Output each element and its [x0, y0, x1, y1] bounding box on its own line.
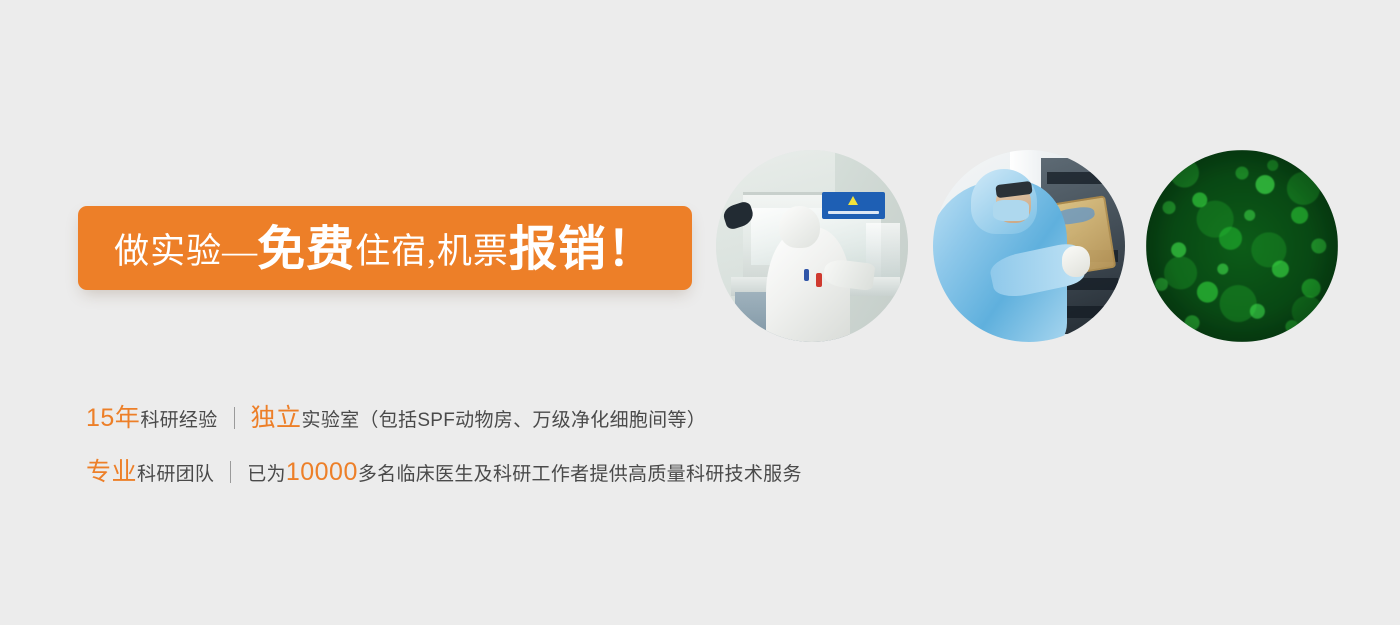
feature-text-2-3: 已为	[247, 459, 286, 486]
feature-line-1: 15年科研经验独立实验室（包括SPF动物房、万级净化细胞间等）	[86, 398, 986, 434]
headline-text: 做实验—免费住宿,机票报销！	[114, 224, 656, 272]
feature-list: 15年科研经验独立实验室（包括SPF动物房、万级净化细胞间等）专业科研团队已为1…	[86, 398, 986, 506]
headline-segment-1: —	[222, 234, 257, 269]
feature-text-1-4: 实验室（包括SPF动物房、万级净化细胞间等）	[302, 405, 707, 432]
feature-text-1-1: 科研经验	[140, 405, 217, 432]
headline-segment-3: 住宿,机票	[355, 234, 509, 269]
feature-separator	[230, 461, 231, 483]
headline-segment-0: 做实验	[114, 234, 222, 269]
feature-line-2: 专业科研团队已为10000多名临床医生及科研工作者提供高质量科研技术服务	[86, 452, 986, 488]
feature-text-1-3: 独立	[251, 398, 302, 434]
feature-text-2-0: 专业	[86, 452, 137, 488]
headline-plaque[interactable]: 做实验—免费住宿,机票报销！	[78, 206, 692, 290]
photo-strip	[716, 150, 1340, 346]
feature-text-2-4: 10000	[286, 458, 358, 487]
headline-segment-2: 免费	[257, 226, 355, 274]
feature-text-1-0: 15年	[86, 398, 140, 434]
promo-banner: 做实验—免费住宿,机票报销！	[0, 0, 1400, 625]
feature-text-2-5: 多名临床医生及科研工作者提供高质量科研技术服务	[358, 459, 802, 486]
photo-spf-animal-room-cage[interactable]	[933, 150, 1125, 342]
photo-cleanroom-biosafety-cabinet[interactable]	[716, 150, 908, 342]
photo-gfp-fluorescence-micrograph[interactable]	[1146, 150, 1338, 342]
warning-sign	[822, 192, 885, 219]
feature-text-2-1: 科研团队	[137, 459, 214, 486]
headline-segment-4: 报销！	[509, 226, 656, 274]
feature-separator	[234, 407, 235, 429]
